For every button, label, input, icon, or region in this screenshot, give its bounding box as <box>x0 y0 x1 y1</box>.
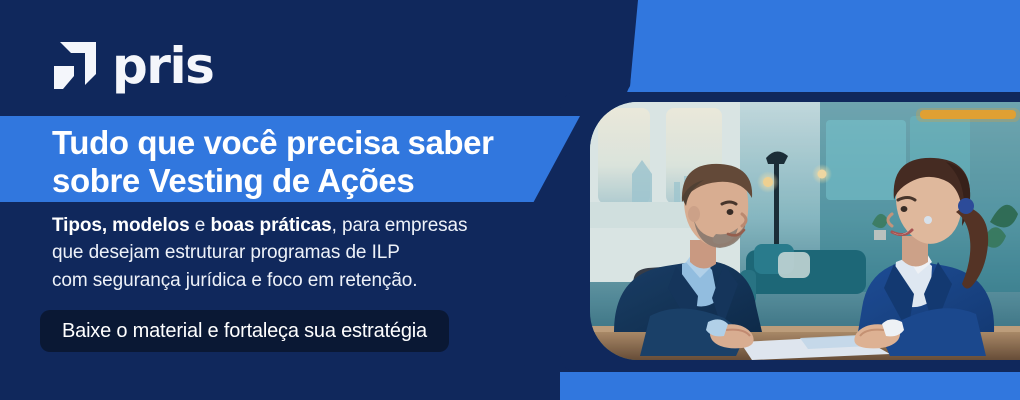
subcopy: Tipos, modelos e boas práticas, para emp… <box>52 212 572 294</box>
photo-card <box>590 102 1020 360</box>
subcopy-line-1: Tipos, modelos e boas práticas, para emp… <box>52 212 572 239</box>
subcopy-bold-a: Tipos, modelos <box>52 215 190 236</box>
promo-banner: pris Tudo que você precisa saber sobre V… <box>0 0 1020 400</box>
subcopy-line-3: com segurança jurídica e foco em retençã… <box>52 267 572 294</box>
subcopy-mid: e <box>190 215 211 236</box>
subcopy-bold-b: boas práticas <box>210 215 331 236</box>
download-cta-button[interactable]: Baixe o material e fortaleça sua estraté… <box>40 310 449 352</box>
headline-line-2: sobre Vesting de Ações <box>52 162 572 200</box>
headline-line-1: Tudo que você precisa saber <box>52 124 572 162</box>
subcopy-tail: , para empresas <box>332 215 468 236</box>
business-meeting-photo <box>590 102 1020 360</box>
headline: Tudo que você precisa saber sobre Vestin… <box>52 124 572 199</box>
brand-logo[interactable]: pris <box>52 40 213 92</box>
brand-wordmark: pris <box>112 41 213 91</box>
pris-arrow-mark-icon <box>52 40 98 92</box>
subcopy-line-2: que desejam estruturar programas de ILP <box>52 239 572 266</box>
